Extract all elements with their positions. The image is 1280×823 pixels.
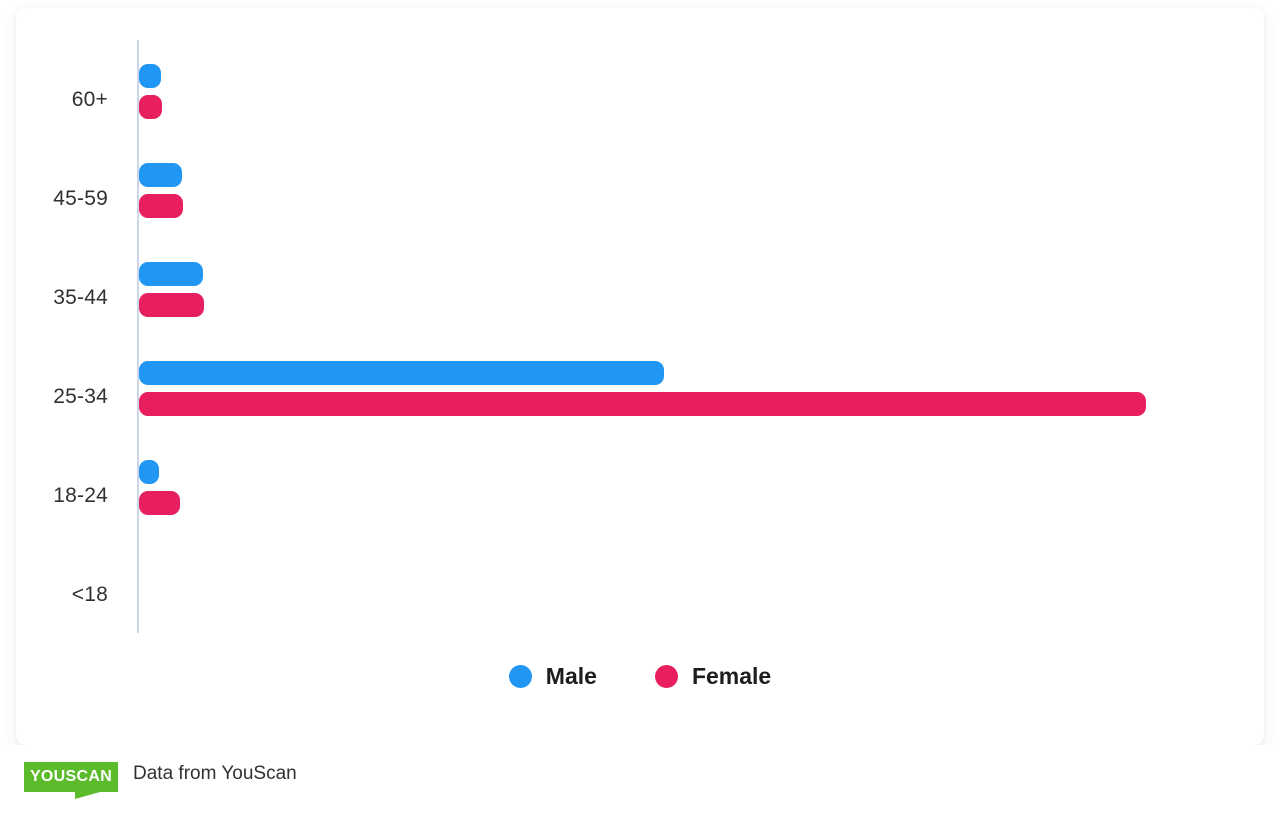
legend-label-male: Male	[546, 663, 597, 690]
youscan-logo-text: YOUSCAN	[30, 768, 112, 786]
bar-female-25-34[interactable]	[139, 392, 1146, 416]
bar-male-60plus[interactable]	[139, 64, 161, 88]
y-axis-label-35-44: 35-44	[0, 286, 108, 310]
chart-legend: Male Female	[16, 663, 1264, 690]
bar-female-60plus[interactable]	[139, 95, 162, 119]
y-axis-label-under18: <18	[0, 583, 108, 607]
legend-label-female: Female	[692, 663, 771, 690]
youscan-logo-icon[interactable]: YOUSCAN	[24, 762, 118, 792]
legend-dot-male-icon	[509, 665, 532, 688]
chart-plot-area: 60+ 45-59 35-44 25-34 18-24 <18	[16, 8, 1264, 648]
bar-female-18-24[interactable]	[139, 491, 180, 515]
bar-male-18-24[interactable]	[139, 460, 159, 484]
bar-female-45-59[interactable]	[139, 194, 183, 218]
bar-male-25-34[interactable]	[139, 361, 664, 385]
youscan-logo-badge: YOUSCAN	[24, 762, 118, 792]
footer-bar: YOUSCAN Data from YouScan	[0, 745, 1280, 823]
y-axis-label-25-34: 25-34	[0, 385, 108, 409]
bar-male-45-59[interactable]	[139, 163, 182, 187]
y-axis-line	[137, 40, 139, 633]
y-axis-label-60plus: 60+	[0, 88, 108, 112]
youscan-logo-tail	[75, 792, 100, 799]
legend-dot-female-icon	[655, 665, 678, 688]
legend-item-male[interactable]: Male	[509, 663, 597, 690]
bar-male-35-44[interactable]	[139, 262, 203, 286]
footer-caption: Data from YouScan	[133, 763, 297, 785]
legend-item-female[interactable]: Female	[655, 663, 771, 690]
chart-card: 60+ 45-59 35-44 25-34 18-24 <18 Male Fem…	[16, 8, 1264, 745]
bar-female-35-44[interactable]	[139, 293, 204, 317]
y-axis-label-18-24: 18-24	[0, 484, 108, 508]
y-axis-label-45-59: 45-59	[0, 187, 108, 211]
